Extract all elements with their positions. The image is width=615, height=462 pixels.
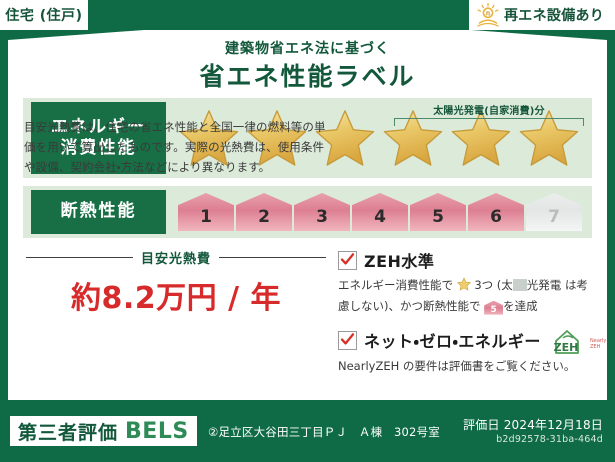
svg-text:再: 再 — [485, 10, 491, 17]
estimated-cost-heading: 目安光熱費 — [26, 248, 326, 267]
bels-badge: 第三者評価 BELS — [10, 416, 197, 446]
label-content: 建築物省エネ法に基づく 省エネ性能ラベル エネルギー 消費性能 太陽光発電(自家… — [16, 26, 599, 392]
zeh-standard-title: ZEH水準 — [364, 248, 434, 272]
insulation-level-2: 2 — [236, 193, 292, 231]
insulation-level-6: 6 — [468, 193, 524, 231]
renewable-equipment-label: 再エネ設備あり — [504, 5, 604, 25]
net-zero-energy-claim: ネット・ゼロ・エネルギー ZEH Nearly ZEH NearlyZEH の要… — [338, 327, 594, 376]
sun-renewable-icon: 再 — [475, 2, 501, 28]
insulation-performance-key: 断熱性能 — [31, 190, 166, 234]
zeh-body-stars: 3つ (太 — [474, 278, 512, 292]
building-type-label: 住宅 (住戸) — [5, 5, 82, 25]
insulation-level-1: 1 — [178, 193, 234, 231]
svg-text:ZEH: ZEH — [590, 344, 601, 350]
heading-rule-left — [26, 257, 133, 258]
certification-claims: ZEH水準 エネルギー消費性能で 3つ (太光発電 は考慮しない)、かつ断熱性能… — [338, 248, 594, 388]
insulation-level-4-label: 4 — [374, 207, 386, 227]
energy-performance-label: 住宅 (住戸) 再 再エネ設備あり 建築物省エネ法に基づく 省エネ性 — [0, 0, 615, 462]
insulation-level-3-label: 3 — [316, 207, 328, 227]
insulation-level-4: 4 — [352, 193, 408, 231]
svg-text:ZEH: ZEH — [554, 341, 579, 354]
insulation-level-5-label: 5 — [432, 207, 444, 227]
bracket-line — [394, 118, 584, 126]
property-address: ②足立区大谷田三丁目ＰＪ Ａ棟 302号室 — [208, 424, 440, 440]
net-zero-energy-title: ネット・ゼロ・エネルギー — [364, 328, 541, 352]
zeh-standard-claim-head: ZEH水準 — [338, 248, 594, 272]
estimated-energy-cost-block: 目安光熱費 約8.2万円 / 年 — [26, 248, 326, 317]
insulation-key-label: 断熱性能 — [61, 201, 137, 222]
zeh-body-part4: を達成 — [503, 299, 538, 313]
evaluation-date: 評価日 2024年12月18日 — [463, 416, 603, 433]
zeh-standard-body: エネルギー消費性能で 3つ (太光発電 は考慮しない)、かつ断熱性能で 5を達成 — [338, 276, 594, 315]
insulation-level-3: 3 — [294, 193, 350, 231]
zeh-body-part1: エネルギー消費性能で — [338, 278, 453, 292]
zeh-body-part2: 光発電 — [527, 278, 562, 292]
inline-insulation-level-label: 5 — [491, 305, 497, 315]
insulation-level-2-label: 2 — [258, 207, 270, 227]
bels-jp-label: 第三者評価 — [18, 418, 118, 445]
heading-rule-right — [219, 257, 326, 258]
insulation-level-7: 7 — [526, 193, 582, 231]
net-zero-energy-claim-head: ネット・ゼロ・エネルギー ZEH Nearly ZEH — [338, 327, 594, 353]
estimated-cost-heading-label: 目安光熱費 — [141, 248, 211, 267]
redacted-character — [513, 279, 527, 291]
solar-self-consumption-bracket: 太陽光発電(自家消費)分 — [394, 102, 584, 126]
inline-star-icon — [457, 280, 475, 294]
checkbox-checked-icon-2 — [338, 331, 357, 350]
renewable-equipment-tag: 再 再エネ設備あり — [469, 0, 615, 30]
solar-caption: 太陽光発電(自家消費)分 — [394, 102, 584, 117]
evaluation-id: b2d92578-31ba-464d — [496, 434, 603, 445]
insulation-level-1-label: 1 — [200, 207, 212, 227]
inline-insulation-level-icon: 5 — [484, 301, 503, 315]
estimated-cost-value: 約8.2万円 / 年 — [26, 273, 326, 317]
insulation-level-6-label: 6 — [490, 207, 502, 227]
insulation-performance-row: 断熱性能 1234567 — [23, 186, 592, 238]
zeh-house-logo-icon: ZEH Nearly ZEH — [550, 327, 592, 353]
estimated-cost-note: 目安光熱費は、住宅の省エネ性能と全国一律の燃料等の単価を用いて算出したものです。… — [24, 118, 326, 177]
insulation-levels: 1234567 — [178, 193, 582, 231]
net-zero-energy-body: NearlyZEH の要件は評価書をご覧ください。 — [338, 357, 594, 376]
building-type-tag: 住宅 (住戸) — [0, 0, 88, 30]
footer-bar: 第三者評価 BELS ②足立区大谷田三丁目ＰＪ Ａ棟 302号室 評価日 202… — [0, 404, 615, 462]
checkbox-checked-icon — [338, 251, 357, 270]
label-subtitle: 建築物省エネ法に基づく — [16, 38, 599, 58]
label-title: 省エネ性能ラベル — [16, 57, 599, 93]
bels-en-label: BELS — [125, 419, 189, 444]
insulation-level-7-label: 7 — [548, 207, 560, 227]
insulation-level-5: 5 — [410, 193, 466, 231]
zeh-standard-claim: ZEH水準 エネルギー消費性能で 3つ (太光発電 は考慮しない)、かつ断熱性能… — [338, 248, 594, 315]
